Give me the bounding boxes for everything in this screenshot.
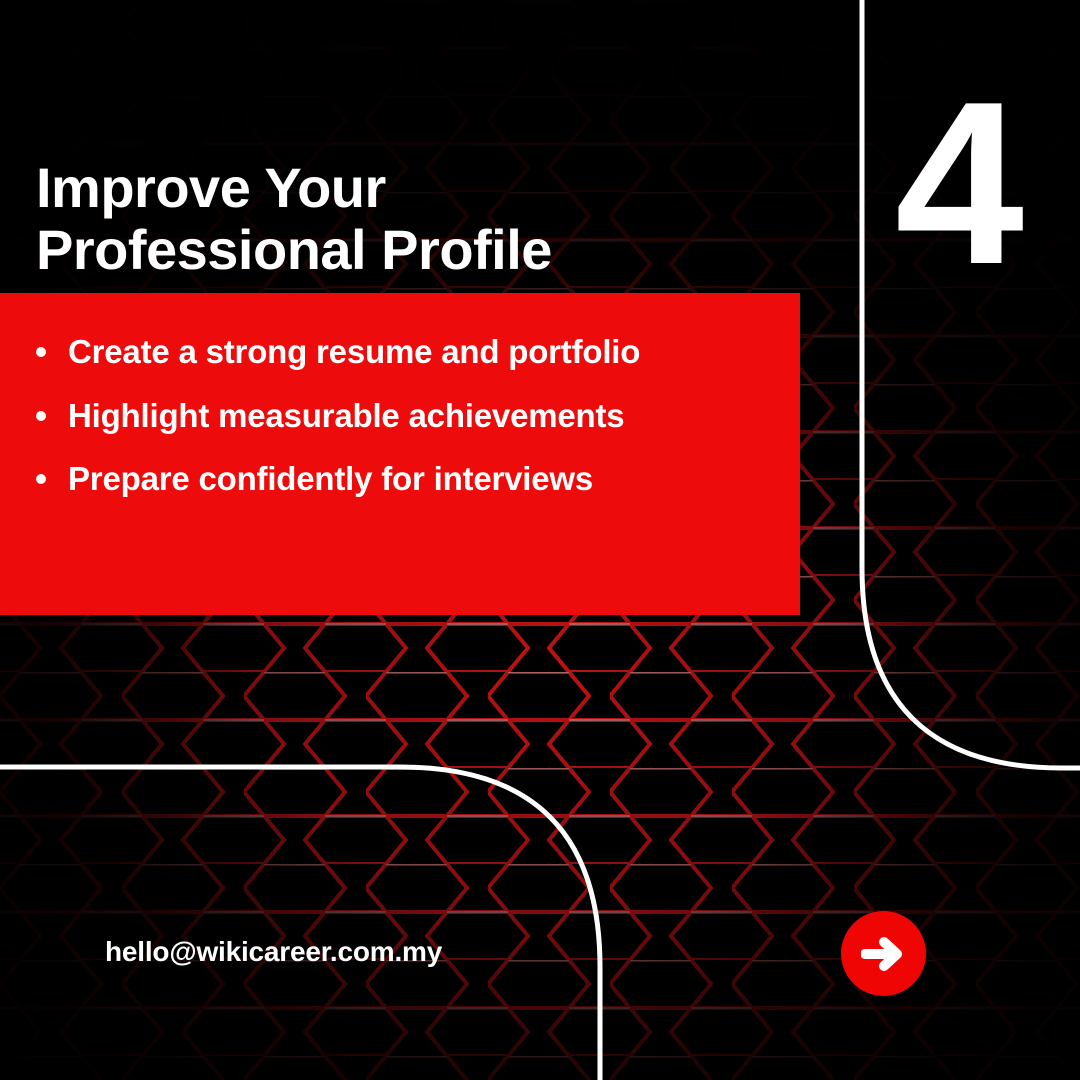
page-title-line-2: Professional Profile — [36, 219, 796, 282]
bullet-dot-icon — [36, 474, 46, 484]
bullet-dot-icon — [36, 411, 46, 421]
page-title-line-1: Improve Your — [36, 156, 386, 219]
list-item-label: Create a strong resume and portfolio — [68, 333, 640, 370]
step-number: 4 — [895, 84, 1018, 284]
poster-canvas: 4 Improve Your Professional Profile Crea… — [0, 0, 1080, 1080]
list-item: Prepare confidently for interviews — [26, 458, 782, 500]
arrow-right-icon — [861, 935, 907, 973]
next-arrow-button[interactable] — [841, 911, 926, 996]
list-item: Create a strong resume and portfolio — [26, 331, 782, 373]
list-item-label: Prepare confidently for interviews — [68, 460, 593, 497]
bullet-list: Create a strong resume and portfolio Hig… — [26, 331, 782, 500]
bullet-panel: Create a strong resume and portfolio Hig… — [0, 293, 800, 615]
bullet-dot-icon — [36, 347, 46, 357]
list-item: Highlight measurable achievements — [26, 395, 782, 437]
page-title: Improve Your Professional Profile — [36, 157, 796, 282]
contact-email[interactable]: hello@wikicareer.com.my — [105, 936, 442, 968]
list-item-label: Highlight measurable achievements — [68, 397, 624, 434]
